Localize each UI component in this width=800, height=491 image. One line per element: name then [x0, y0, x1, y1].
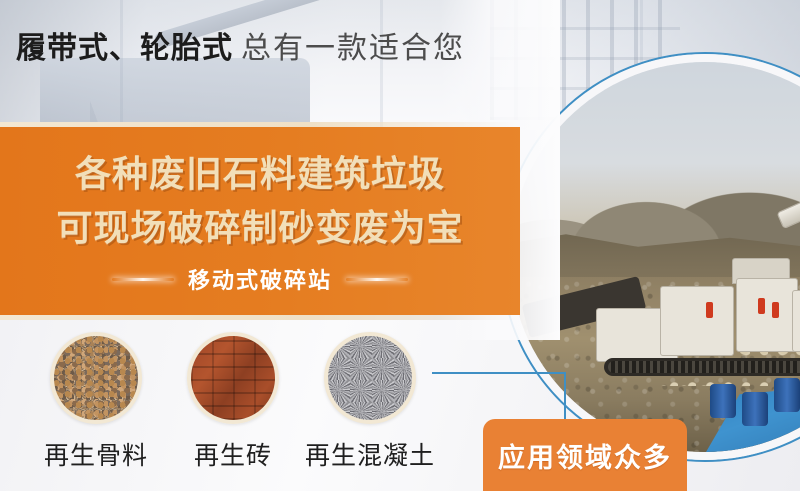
- photo-barrel: [742, 392, 768, 426]
- gravel-aggregate-photo: [50, 332, 142, 424]
- headline-strong: 履带式、轮胎式: [16, 32, 233, 65]
- promotional-banner: 履带式、轮胎式总有一款适合您 各种废旧石料建筑垃圾 可现场破碎制砂变废为宝 移动…: [0, 0, 800, 491]
- photo-machine-unit-3: [736, 278, 798, 352]
- red-brick-stack-photo: [187, 332, 279, 424]
- application-fields-button[interactable]: 应用领域众多: [483, 419, 687, 491]
- product-label: 再生混凝土: [296, 436, 444, 472]
- orange-subtitle: 移动式破碎站: [188, 263, 332, 295]
- orange-block-bottom-rule: [0, 315, 520, 320]
- connector-horizontal-segment: [432, 372, 566, 374]
- photo-machine-unit-2: [660, 286, 734, 356]
- crushed-concrete-photo: [324, 332, 416, 424]
- photo-worker: [772, 302, 779, 318]
- photo-worker: [758, 298, 765, 314]
- application-fields-button-label: 应用领域众多: [498, 436, 672, 475]
- orange-headline-line-2: 可现场破碎制砂变废为宝: [0, 199, 520, 251]
- spark-line-left-icon: [112, 278, 174, 281]
- headline: 履带式、轮胎式总有一款适合您: [16, 34, 465, 64]
- product-item[interactable]: 再生混凝土: [296, 332, 444, 472]
- mobile-crushing-plant-photo: [510, 62, 800, 452]
- orange-headline-line-1: 各种废旧石料建筑垃圾: [0, 145, 520, 197]
- product-label: 再生骨料: [22, 436, 170, 472]
- photo-barrel: [710, 384, 736, 418]
- photo-mountains: [510, 132, 800, 252]
- product-item[interactable]: 再生骨料: [22, 332, 170, 472]
- orange-subtitle-row: 移动式破碎站: [0, 263, 520, 295]
- photo-crawler-track: [604, 358, 800, 376]
- product-list: 再生骨料 再生砖 再生混凝土: [22, 332, 444, 472]
- photo-machine-unit-4: [792, 290, 800, 352]
- spark-line-right-icon: [346, 278, 408, 281]
- photo-barrel: [774, 378, 800, 412]
- product-item[interactable]: 再生砖: [170, 332, 296, 472]
- photo-worker: [706, 302, 713, 318]
- headline-light: 总有一款适合您: [241, 32, 465, 65]
- product-label: 再生砖: [170, 436, 296, 472]
- orange-band: 各种废旧石料建筑垃圾 可现场破碎制砂变废为宝 移动式破碎站: [0, 127, 520, 315]
- orange-message-block: 各种废旧石料建筑垃圾 可现场破碎制砂变废为宝 移动式破碎站: [0, 122, 520, 320]
